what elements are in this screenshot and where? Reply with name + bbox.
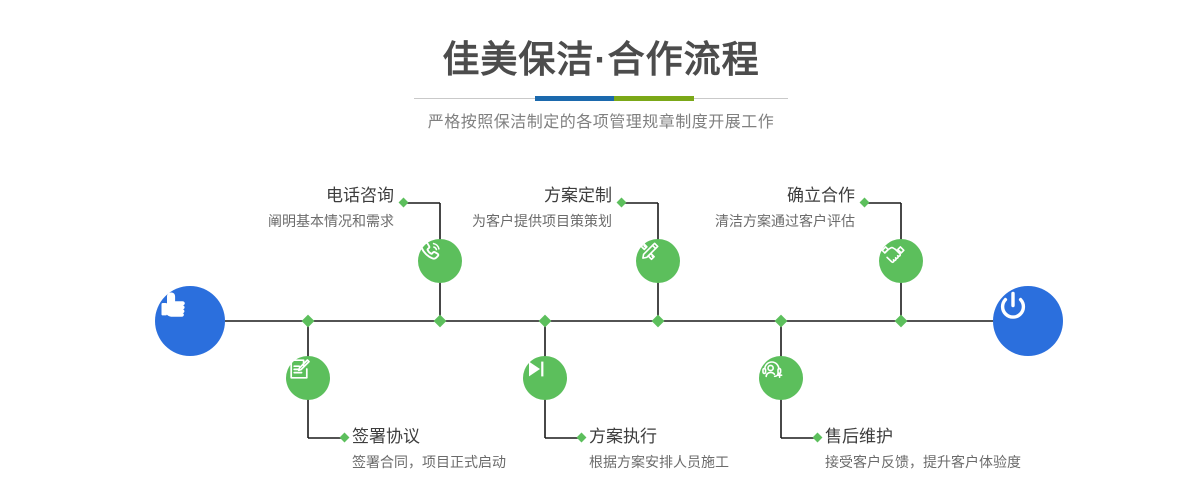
step-label-1: 电话咨询 阐明基本情况和需求: [144, 185, 394, 231]
handshake-icon: [879, 239, 907, 267]
diamond-marker: [340, 433, 350, 443]
flow-diagram: 电话咨询 阐明基本情况和需求 方案定制 为客户提供项目策策划 确立合作 清洁方案…: [0, 0, 1202, 502]
diamond-marker: [895, 315, 908, 328]
diamond-marker: [860, 198, 870, 208]
diamond-marker: [539, 315, 552, 328]
diamond-marker: [302, 315, 315, 328]
step-label-1-title: 电话咨询: [144, 185, 394, 207]
document-sign-icon: [286, 356, 312, 382]
play-execute-icon: [523, 356, 549, 382]
diamond-marker: [775, 315, 788, 328]
step-node-2[interactable]: [286, 356, 330, 400]
step-label-1-desc: 阐明基本情况和需求: [144, 207, 394, 231]
flow-start-node[interactable]: [155, 286, 225, 356]
diamond-marker: [652, 315, 665, 328]
phone-call-icon: [418, 239, 444, 265]
step-label-3-desc: 为客户提供项目策策划: [362, 207, 612, 231]
step-node-5[interactable]: [879, 239, 923, 283]
customer-service-add-icon: [759, 356, 785, 382]
step-node-3[interactable]: [636, 239, 680, 283]
pointing-hand-icon: [155, 286, 195, 326]
pencil-ruler-icon: [636, 239, 662, 265]
step-label-5-desc: 清洁方案通过客户评估: [605, 207, 855, 231]
step-label-6-title: 售后维护: [825, 426, 1155, 448]
step-label-3: 方案定制 为客户提供项目策策划: [362, 185, 612, 231]
step-label-5: 确立合作 清洁方案通过客户评估: [605, 185, 855, 231]
step-node-4[interactable]: [523, 356, 567, 400]
step-label-6: 售后维护 接受客户反馈，提升客户体验度: [825, 426, 1155, 472]
step-node-6[interactable]: [759, 356, 803, 400]
step-label-5-title: 确立合作: [605, 185, 855, 207]
step-label-6-desc: 接受客户反馈，提升客户体验度: [825, 448, 1155, 472]
flow-end-node[interactable]: [993, 286, 1063, 356]
step-label-3-title: 方案定制: [362, 185, 612, 207]
cooperation-flow-page: 佳美保洁·合作流程 严格按照保洁制定的各项管理规章制度开展工作: [0, 0, 1202, 502]
label-diamonds: [340, 198, 870, 443]
diamond-marker: [434, 315, 447, 328]
step-node-1[interactable]: [418, 239, 462, 283]
power-button-icon: [993, 286, 1033, 326]
